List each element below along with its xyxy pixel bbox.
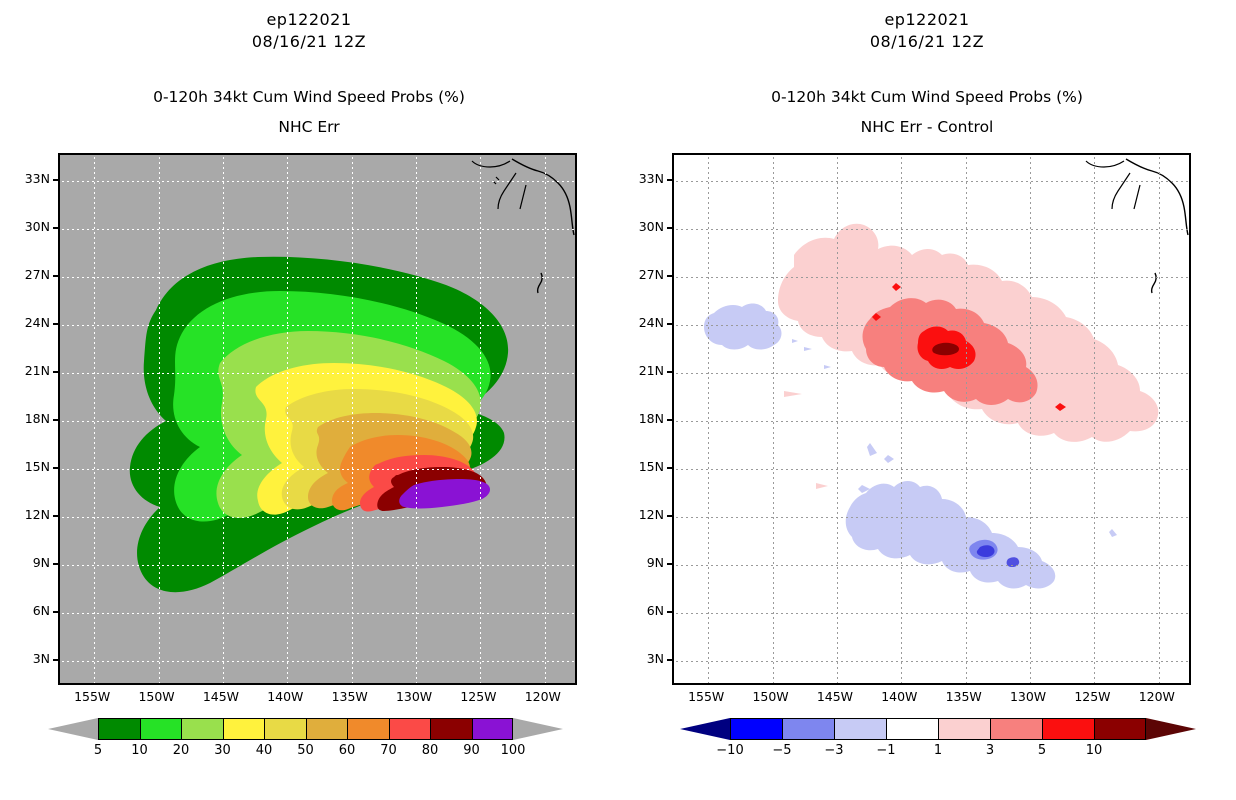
ylabel-27N: 27N: [624, 267, 664, 282]
ylabel-18N: 18N: [10, 411, 50, 426]
gridline-lat-27N: [676, 277, 1191, 278]
colorbar-tick-10: 10: [1069, 743, 1119, 758]
xlabel-150W: 150W: [131, 689, 183, 704]
ylabel-21N: 21N: [10, 363, 50, 378]
colorbar-extend-low: [48, 718, 98, 740]
xlabel-125W: 125W: [1066, 689, 1118, 704]
gridline-lat-9N: [676, 565, 1191, 566]
coastline-left: [60, 155, 575, 683]
plot-title-right: 0-120h 34kt Cum Wind Speed Probs (%): [618, 88, 1236, 106]
gridline-lon-155W: [94, 157, 95, 685]
xlabel-145W: 145W: [195, 689, 247, 704]
ylabel-6N: 6N: [10, 603, 50, 618]
ytick: [53, 515, 58, 517]
ytick: [53, 227, 58, 229]
colorbar-segment-7: [389, 718, 431, 740]
gridline-lon-135W: [966, 157, 967, 685]
gridline-lat-30N: [676, 229, 1191, 230]
ylabel-12N: 12N: [624, 507, 664, 522]
ytick: [667, 515, 672, 517]
ytick: [53, 563, 58, 565]
storm-id-left: ep122021: [0, 10, 618, 29]
ylabel-6N: 6N: [624, 603, 664, 618]
ytick: [667, 659, 672, 661]
storm-id-right: ep122021: [618, 10, 1236, 29]
colorbar-segment-7: [1094, 718, 1146, 740]
xlabel-130W: 130W: [1002, 689, 1054, 704]
xlabel-140W: 140W: [259, 689, 311, 704]
gridline-lon-150W: [773, 157, 774, 685]
colorbar-segment-4: [938, 718, 990, 740]
ytick: [667, 371, 672, 373]
gridline-lon-145W: [837, 157, 838, 685]
ylabel-33N: 33N: [10, 171, 50, 186]
gridline-lat-24N: [676, 325, 1191, 326]
gridline-lon-140W: [901, 157, 902, 685]
xlabel-135W: 135W: [938, 689, 990, 704]
xlabel-120W: 120W: [517, 689, 569, 704]
map-frame-left: [58, 153, 577, 685]
gridline-lat-15N: [62, 469, 577, 470]
xlabel-155W: 155W: [680, 689, 732, 704]
xlabel-125W: 125W: [452, 689, 504, 704]
gridline-lat-30N: [62, 229, 577, 230]
ylabel-3N: 3N: [624, 651, 664, 666]
xlabel-120W: 120W: [1131, 689, 1183, 704]
ylabel-9N: 9N: [624, 555, 664, 570]
ytick: [667, 419, 672, 421]
gridline-lat-18N: [676, 421, 1191, 422]
gridline-lon-135W: [352, 157, 353, 685]
gridline-lon-125W: [480, 157, 481, 685]
gridline-lat-9N: [62, 565, 577, 566]
colorbar-segment-5: [306, 718, 348, 740]
ytick: [667, 179, 672, 181]
ytick: [53, 323, 58, 325]
colorbar-segment-2: [834, 718, 886, 740]
plot-subtitle-left: NHC Err: [0, 118, 618, 136]
ylabel-24N: 24N: [624, 315, 664, 330]
ytick: [53, 419, 58, 421]
gridline-lat-3N: [62, 661, 577, 662]
gridline-lon-145W: [223, 157, 224, 685]
gridline-lat-21N: [676, 373, 1191, 374]
colorbar-tick--3: −3: [809, 743, 859, 758]
colorbar-segment-6: [347, 718, 389, 740]
ylabel-21N: 21N: [624, 363, 664, 378]
colorbar-segment-6: [1042, 718, 1094, 740]
ytick: [53, 467, 58, 469]
gridline-lon-140W: [287, 157, 288, 685]
colorbar-segment-3: [223, 718, 265, 740]
plot-title-left: 0-120h 34kt Cum Wind Speed Probs (%): [0, 88, 618, 106]
plot-subtitle-right: NHC Err - Control: [618, 118, 1236, 136]
ylabel-15N: 15N: [10, 459, 50, 474]
colorbar-tick-5: 5: [1017, 743, 1067, 758]
gridline-lat-27N: [62, 277, 577, 278]
colorbar-extend-low: [680, 718, 730, 740]
ytick: [667, 323, 672, 325]
gridline-lat-12N: [676, 517, 1191, 518]
map-frame-right: [672, 153, 1191, 685]
colorbar-tick--10: −10: [705, 743, 755, 758]
panel-nhc-err: ep122021 08/16/21 12Z 0-120h 34kt Cum Wi…: [0, 0, 618, 800]
colorbar-tick--1: −1: [861, 743, 911, 758]
gridline-lat-15N: [676, 469, 1191, 470]
gridline-lat-24N: [62, 325, 577, 326]
ylabel-30N: 30N: [624, 219, 664, 234]
ytick: [53, 371, 58, 373]
colorbar-segment-5: [990, 718, 1042, 740]
colorbar-left: [98, 718, 513, 740]
colorbar-segment-4: [264, 718, 306, 740]
gridline-lon-130W: [1030, 157, 1031, 685]
colorbar-right: [730, 718, 1146, 740]
gridline-lon-150W: [159, 157, 160, 685]
ytick: [53, 275, 58, 277]
ylabel-27N: 27N: [10, 267, 50, 282]
ytick: [667, 611, 672, 613]
colorbar-segment-1: [782, 718, 834, 740]
coastline-right: [674, 155, 1189, 683]
gridline-lat-6N: [62, 613, 577, 614]
date-label-right: 08/16/21 12Z: [618, 32, 1236, 51]
ylabel-15N: 15N: [624, 459, 664, 474]
gridline-lat-18N: [62, 421, 577, 422]
xlabel-155W: 155W: [66, 689, 118, 704]
xlabel-140W: 140W: [873, 689, 925, 704]
xlabel-130W: 130W: [388, 689, 440, 704]
ytick: [667, 467, 672, 469]
gridline-lon-120W: [1159, 157, 1160, 685]
date-label-left: 08/16/21 12Z: [0, 32, 618, 51]
ylabel-9N: 9N: [10, 555, 50, 570]
gridline-lat-21N: [62, 373, 577, 374]
gridline-lat-33N: [676, 181, 1191, 182]
ytick: [667, 227, 672, 229]
gridline-lat-6N: [676, 613, 1191, 614]
ytick: [667, 563, 672, 565]
xlabel-145W: 145W: [809, 689, 861, 704]
xlabel-135W: 135W: [324, 689, 376, 704]
colorbar-tick-3: 3: [965, 743, 1015, 758]
ylabel-33N: 33N: [624, 171, 664, 186]
gridline-lon-130W: [416, 157, 417, 685]
gridline-lon-120W: [545, 157, 546, 685]
ylabel-30N: 30N: [10, 219, 50, 234]
colorbar-segment-3: [886, 718, 938, 740]
ytick: [53, 179, 58, 181]
gridline-lon-125W: [1094, 157, 1095, 685]
xlabel-150W: 150W: [745, 689, 797, 704]
gridline-lat-12N: [62, 517, 577, 518]
colorbar-extend-high: [1146, 718, 1196, 740]
colorbar-segment-1: [140, 718, 182, 740]
ylabel-3N: 3N: [10, 651, 50, 666]
ylabel-12N: 12N: [10, 507, 50, 522]
gridline-lat-33N: [62, 181, 577, 182]
colorbar-extend-high: [513, 718, 563, 740]
colorbar-segment-0: [98, 718, 140, 740]
colorbar-tick--5: −5: [757, 743, 807, 758]
colorbar-tick-100: 100: [488, 743, 538, 758]
ytick: [53, 659, 58, 661]
colorbar-segment-8: [430, 718, 472, 740]
ylabel-18N: 18N: [624, 411, 664, 426]
gridline-lon-155W: [708, 157, 709, 685]
ylabel-24N: 24N: [10, 315, 50, 330]
colorbar-segment-9: [472, 718, 514, 740]
ytick: [667, 275, 672, 277]
panel-nhc-err-minus-control: ep122021 08/16/21 12Z 0-120h 34kt Cum Wi…: [618, 0, 1236, 800]
gridline-lat-3N: [676, 661, 1191, 662]
colorbar-segment-0: [730, 718, 782, 740]
colorbar-segment-2: [181, 718, 223, 740]
colorbar-tick-1: 1: [913, 743, 963, 758]
ytick: [53, 611, 58, 613]
